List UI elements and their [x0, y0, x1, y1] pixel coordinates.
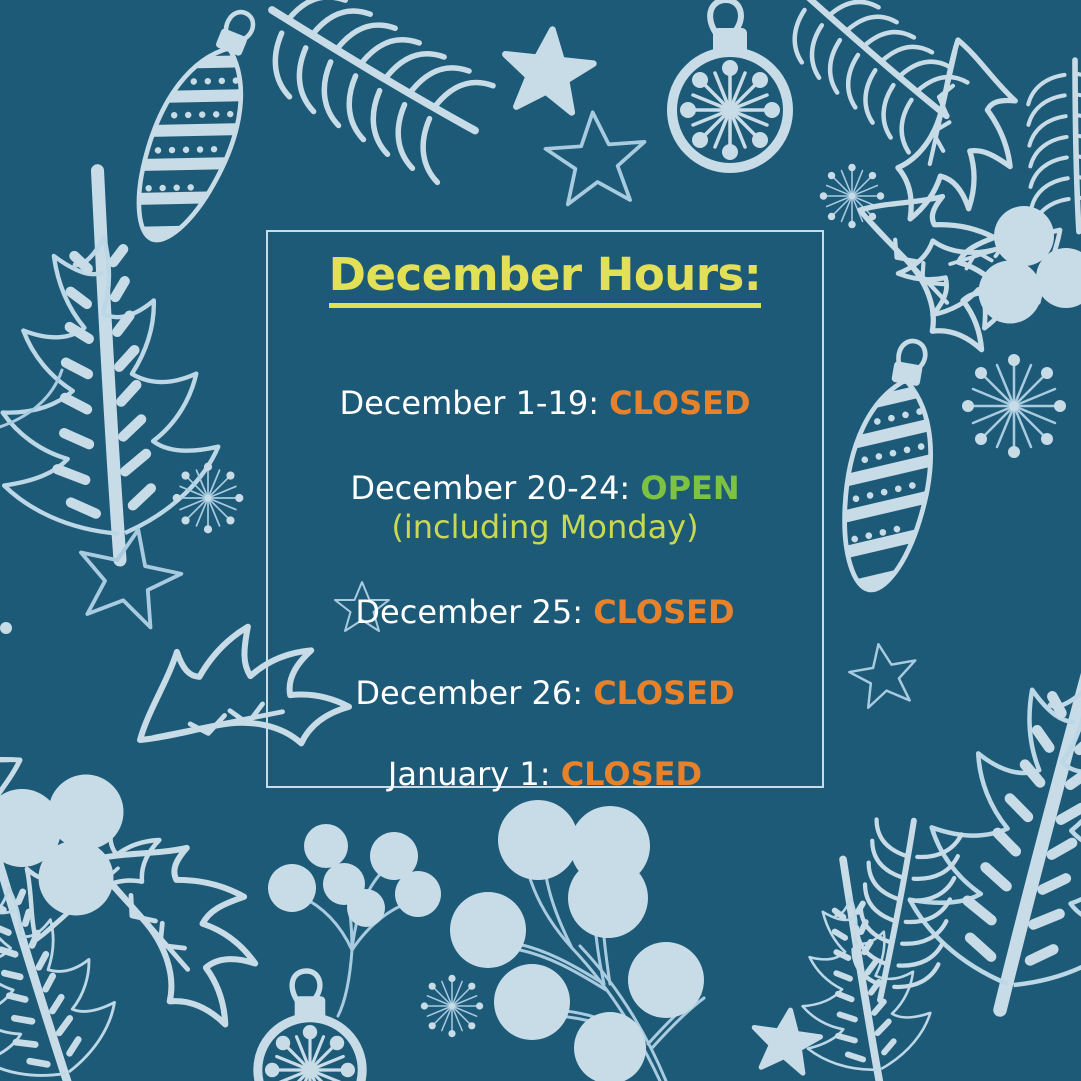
holly-berry — [49, 775, 124, 850]
hours-list: December 1-19: CLOSED December 20-24: OP… — [268, 338, 822, 794]
snowflake-icon-left-mid — [173, 463, 244, 534]
hours-card: December Hours: December 1-19: CLOSED De… — [266, 230, 824, 788]
hours-label-3: December 26: — [355, 674, 583, 712]
snowflake-icon-right-upper — [820, 164, 884, 228]
hours-note-1: (including Monday) — [391, 508, 698, 547]
hours-label-2: December 25: — [355, 593, 583, 631]
hours-value-1: OPEN — [640, 469, 739, 507]
snowflake-icon-bottom-center — [421, 975, 483, 1037]
hours-entry-4: January 1: CLOSED — [388, 755, 702, 794]
hours-value-0: CLOSED — [609, 384, 750, 422]
hours-value-3: CLOSED — [593, 674, 734, 712]
holiday-hours-poster: December Hours: December 1-19: CLOSED De… — [0, 0, 1081, 1081]
hours-label-0: December 1-19: — [339, 384, 599, 422]
hours-value-4: CLOSED — [561, 755, 702, 793]
hours-entry-3: December 26: CLOSED — [355, 674, 734, 713]
hours-entry-1: December 20-24: OPEN — [350, 469, 739, 508]
hours-value-2: CLOSED — [593, 593, 734, 631]
hours-label-1: December 20-24: — [350, 469, 630, 507]
hours-entry-0: December 1-19: CLOSED — [339, 384, 750, 423]
snowflake-icon-right — [962, 354, 1066, 458]
page-title: December Hours: — [329, 250, 762, 308]
hours-label-4: January 1: — [388, 755, 551, 793]
holly-berry — [39, 841, 114, 916]
dot-accent — [0, 622, 12, 634]
hours-entry-2: December 25: CLOSED — [355, 593, 734, 632]
holly-berry — [979, 261, 1042, 324]
